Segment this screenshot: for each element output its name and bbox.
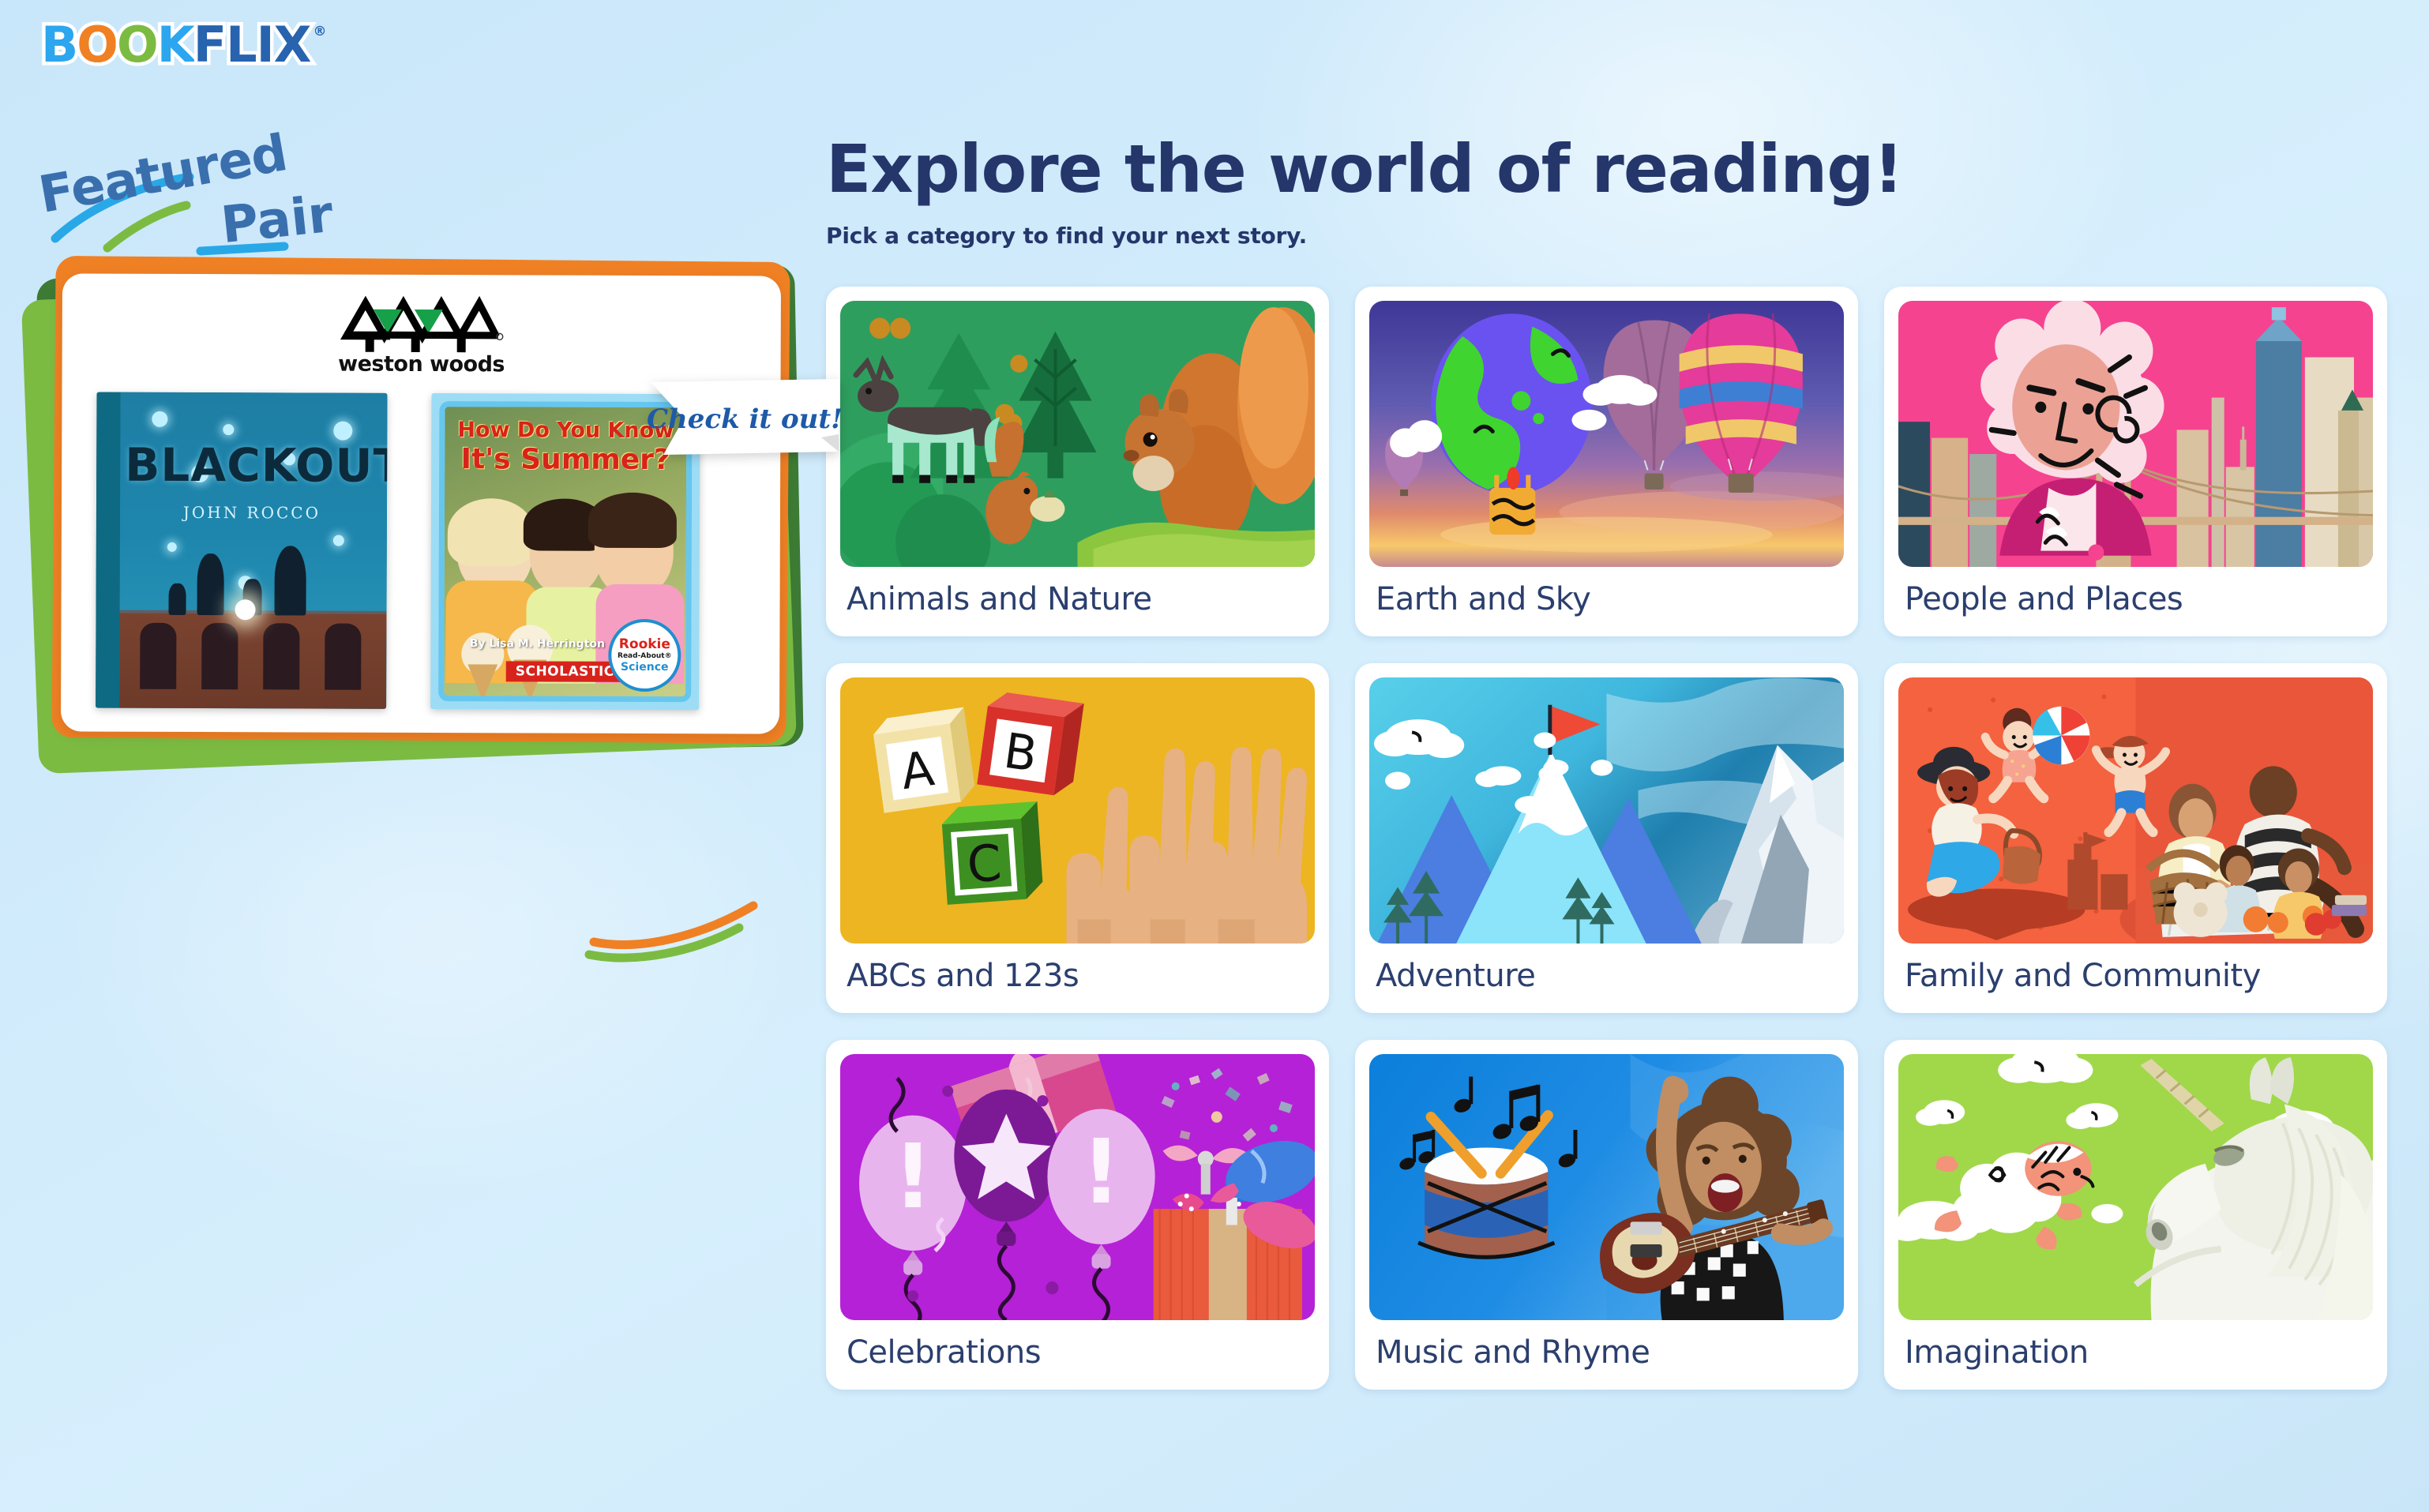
- category-label: Animals and Nature: [847, 581, 1315, 617]
- category-grid: Animals and Nature: [826, 287, 2390, 1390]
- category-label: Earth and Sky: [1376, 581, 1844, 617]
- blackout-author: JOHN ROCCO: [125, 503, 379, 523]
- category-card-imagination[interactable]: Imagination: [1884, 1040, 2387, 1390]
- abcs-and-123s-image: A B C: [840, 677, 1315, 944]
- logo-letter-o1: O: [77, 21, 117, 69]
- animals-and-nature-image: [840, 301, 1315, 567]
- category-label: ABCs and 123s: [847, 958, 1315, 994]
- registered-mark-icon: ®: [313, 24, 325, 39]
- svg-text:C: C: [965, 834, 1003, 895]
- logo-letter-flix: FLIX: [193, 21, 311, 69]
- featured-book-covers: BLACKOUT JOHN ROCCO: [96, 392, 700, 711]
- badge-line-1: Rookie: [619, 638, 670, 651]
- category-card-abcs-and-123s[interactable]: A B C: [826, 663, 1329, 1013]
- badge-line-3: Science: [621, 662, 668, 673]
- weston-woods-mark-icon: [339, 295, 505, 355]
- weston-woods-logo: weston woods: [303, 295, 540, 377]
- weston-woods-name: weston woods: [303, 351, 540, 377]
- celebrations-image: ! !: [840, 1054, 1315, 1320]
- rookie-science-badge: Rookie Read-About® Science: [608, 619, 681, 692]
- logo-letter-k: K: [157, 21, 193, 69]
- svg-text:!: !: [893, 1126, 933, 1229]
- summer-byline: By Lisa M. Herrington: [444, 637, 630, 651]
- featured-pair-section: Featured Pair weston woods: [0, 134, 821, 821]
- page-title: Explore the world of reading!: [826, 136, 2390, 202]
- picnic-family-icon: [1898, 677, 2373, 944]
- squirrel-forest-icon: [840, 301, 1315, 567]
- people-and-places-image: [1898, 301, 2373, 567]
- city-skyline-icon: [1898, 301, 2373, 567]
- scholastic-imprint: SCHOLASTIC: [506, 661, 624, 682]
- family-and-community-image: [1898, 677, 2373, 944]
- svg-text:!: !: [1081, 1121, 1121, 1224]
- earth-and-sky-image: [1369, 301, 1844, 567]
- category-card-people-and-places[interactable]: People and Places: [1884, 287, 2387, 636]
- balloons-gift-icon: ! !: [840, 1054, 1315, 1320]
- category-label: Music and Rhyme: [1376, 1334, 1844, 1371]
- category-card-celebrations[interactable]: ! !: [826, 1040, 1329, 1390]
- category-label: Family and Community: [1905, 958, 2373, 994]
- bottom-swoosh-icon: [584, 896, 782, 967]
- main-content: Explore the world of reading! Pick a cat…: [826, 136, 2390, 1390]
- music-and-rhyme-image: [1369, 1054, 1844, 1320]
- featured-pair-script: Featured Pair: [32, 141, 363, 243]
- page-subtitle: Pick a category to find your next story.: [826, 223, 2390, 249]
- category-card-family-and-community[interactable]: Family and Community: [1884, 663, 2387, 1013]
- blackout-building: [119, 613, 386, 709]
- category-label: Adventure: [1376, 958, 1844, 994]
- bookflix-logo[interactable]: B O O K FLIX ®: [41, 21, 325, 69]
- category-label: People and Places: [1905, 581, 2373, 617]
- category-card-music-and-rhyme[interactable]: Music and Rhyme: [1355, 1040, 1858, 1390]
- category-card-earth-and-sky[interactable]: Earth and Sky: [1355, 287, 1858, 636]
- category-card-adventure[interactable]: Adventure: [1355, 663, 1858, 1013]
- card-layer-white: weston woods BLACKOUT JOHN ROCCO: [61, 273, 781, 733]
- imagination-image: [1898, 1054, 2373, 1320]
- alphabet-blocks-icon: A B C: [840, 677, 1315, 944]
- featured-pair-card[interactable]: weston woods BLACKOUT JOHN ROCCO: [25, 245, 807, 782]
- mountain-peak-icon: [1369, 677, 1844, 944]
- logo-letter-o2: O: [117, 21, 157, 69]
- logo-letter-b: B: [41, 21, 77, 69]
- category-label: Imagination: [1905, 1334, 2373, 1371]
- category-card-animals-and-nature[interactable]: Animals and Nature: [826, 287, 1329, 636]
- category-label: Celebrations: [847, 1334, 1315, 1371]
- book-cover-blackout[interactable]: BLACKOUT JOHN ROCCO: [96, 392, 387, 709]
- ribbon-label: Check it out!: [632, 376, 845, 463]
- unicorn-sheep-icon: [1898, 1054, 2373, 1320]
- blackout-title: BLACKOUT: [125, 438, 379, 493]
- drum-guitar-icon: [1369, 1054, 1844, 1320]
- check-it-out-ribbon[interactable]: Check it out!: [632, 376, 845, 463]
- adventure-image: [1369, 677, 1844, 944]
- hot-air-balloon-icon: [1369, 301, 1844, 567]
